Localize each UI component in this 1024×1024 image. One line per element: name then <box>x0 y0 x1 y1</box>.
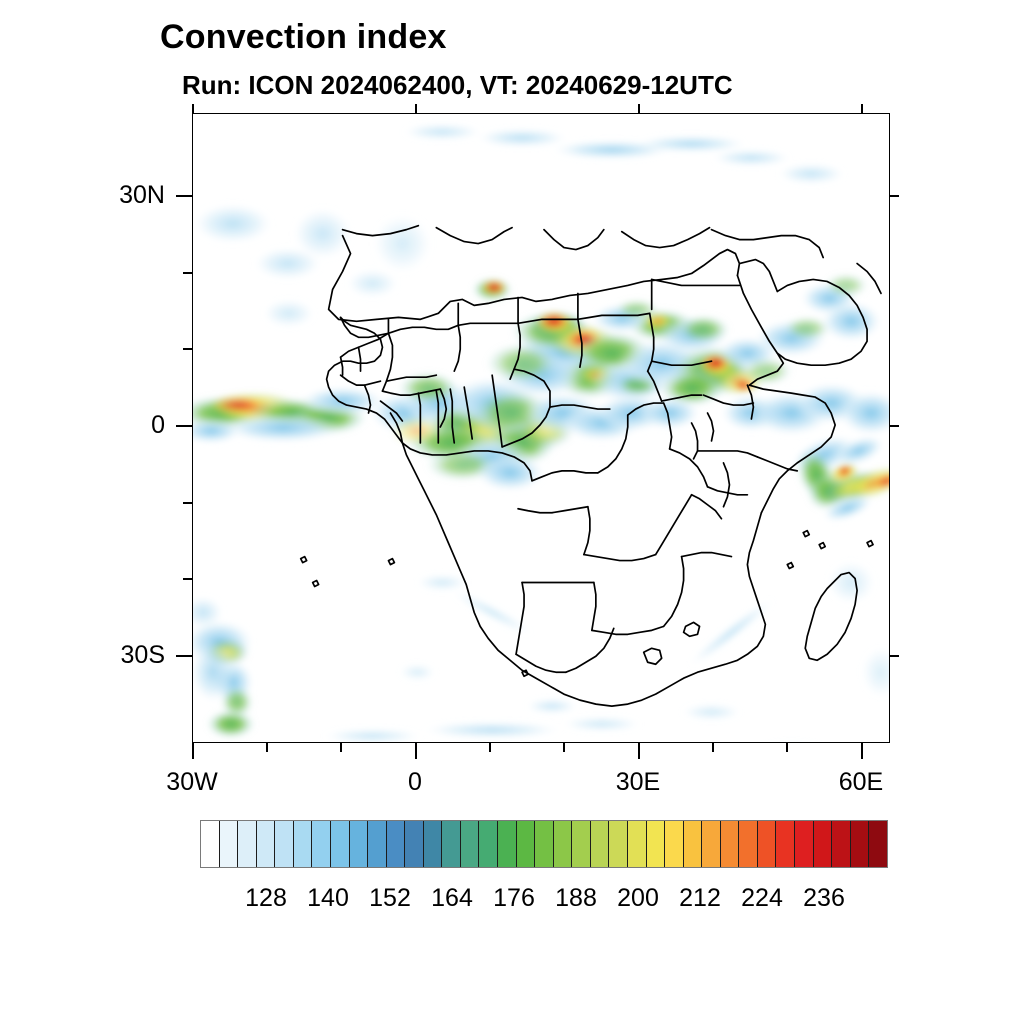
xtick-label-30e: 30E <box>578 768 698 797</box>
colorbar-cell-23 <box>628 821 647 867</box>
colorbar-cell-0 <box>201 821 220 867</box>
colorbar-cell-22 <box>609 821 628 867</box>
ytick-right-30s <box>890 655 899 657</box>
colorbar-cell-17 <box>517 821 536 867</box>
colorbar-cell-14 <box>461 821 480 867</box>
colorbar-cell-33 <box>814 821 833 867</box>
colorbar-cell-7 <box>331 821 350 867</box>
colorbar-cell-31 <box>776 821 795 867</box>
ytick-label-0: 0 <box>55 411 165 440</box>
colorbar-cell-28 <box>721 821 740 867</box>
xtick-label-60e: 60E <box>801 768 921 797</box>
ytick-0 <box>176 425 192 427</box>
ytick-minor-10s <box>183 502 192 504</box>
colorbar-cell-12 <box>424 821 443 867</box>
colorbar-cell-16 <box>498 821 517 867</box>
colorbar-cell-10 <box>387 821 406 867</box>
colorbar-cell-3 <box>257 821 276 867</box>
ytick-label-30s: 30S <box>55 641 165 670</box>
xtick-label-0: 0 <box>355 768 475 797</box>
ytick-minor-20n <box>183 272 192 274</box>
colorbar-cell-4 <box>275 821 294 867</box>
colorbar-cell-13 <box>442 821 461 867</box>
map-plot-area[interactable] <box>192 113 890 743</box>
xtick-top-0 <box>415 104 417 113</box>
colorbar-cell-15 <box>479 821 498 867</box>
ytick-30s <box>176 655 192 657</box>
colorbar-cell-19 <box>554 821 573 867</box>
ytick-30n <box>176 195 192 197</box>
colorbar-cell-24 <box>647 821 666 867</box>
colorbar-cell-1 <box>220 821 239 867</box>
convection-field <box>193 124 889 742</box>
xtick-30w <box>192 743 194 759</box>
map-borders <box>301 226 881 706</box>
colorbar-cell-5 <box>294 821 313 867</box>
colorbar-cell-30 <box>758 821 777 867</box>
xtick-minor-40e <box>712 743 714 752</box>
colorbar-cell-29 <box>739 821 758 867</box>
colorbar-cell-27 <box>702 821 721 867</box>
colorbar-cell-26 <box>684 821 703 867</box>
colorbar-cell-2 <box>238 821 257 867</box>
colorbar-cell-35 <box>851 821 870 867</box>
colorbar-label-236: 236 <box>779 884 869 913</box>
xtick-label-30w: 30W <box>132 768 252 797</box>
page-title: Convection index <box>160 18 447 57</box>
run-valid-time-subtitle: Run: ICON 2024062400, VT: 20240629-12UTC <box>182 70 733 101</box>
colorbar-cell-11 <box>405 821 424 867</box>
colorbar-cell-21 <box>591 821 610 867</box>
colorbar-cell-25 <box>665 821 684 867</box>
figure: Convection index Run: ICON 2024062400, V… <box>0 0 1024 1024</box>
colorbar-cell-36 <box>869 821 887 867</box>
xtick-top-60e <box>861 104 863 113</box>
ytick-right-0 <box>890 425 899 427</box>
colorbar-cell-20 <box>572 821 591 867</box>
colorbar[interactable] <box>200 820 888 868</box>
ytick-label-30n: 30N <box>55 181 165 210</box>
ytick-minor-20s <box>183 578 192 580</box>
xtick-top-30w <box>192 104 194 113</box>
xtick-30e <box>638 743 640 759</box>
colorbar-cell-6 <box>312 821 331 867</box>
xtick-minor-20w <box>266 743 268 752</box>
colorbar-cell-18 <box>535 821 554 867</box>
map-canvas <box>193 114 889 742</box>
xtick-0 <box>415 743 417 759</box>
colorbar-cell-32 <box>795 821 814 867</box>
colorbar-cell-9 <box>368 821 387 867</box>
colorbar-cell-8 <box>350 821 369 867</box>
xtick-minor-50e <box>786 743 788 752</box>
xtick-minor-10w <box>340 743 342 752</box>
xtick-minor-20e <box>563 743 565 752</box>
ytick-minor-10n <box>183 348 192 350</box>
xtick-minor-10e <box>489 743 491 752</box>
xtick-60e <box>861 743 863 759</box>
xtick-top-30e <box>638 104 640 113</box>
colorbar-cell-34 <box>832 821 851 867</box>
ytick-right-30n <box>890 195 899 197</box>
